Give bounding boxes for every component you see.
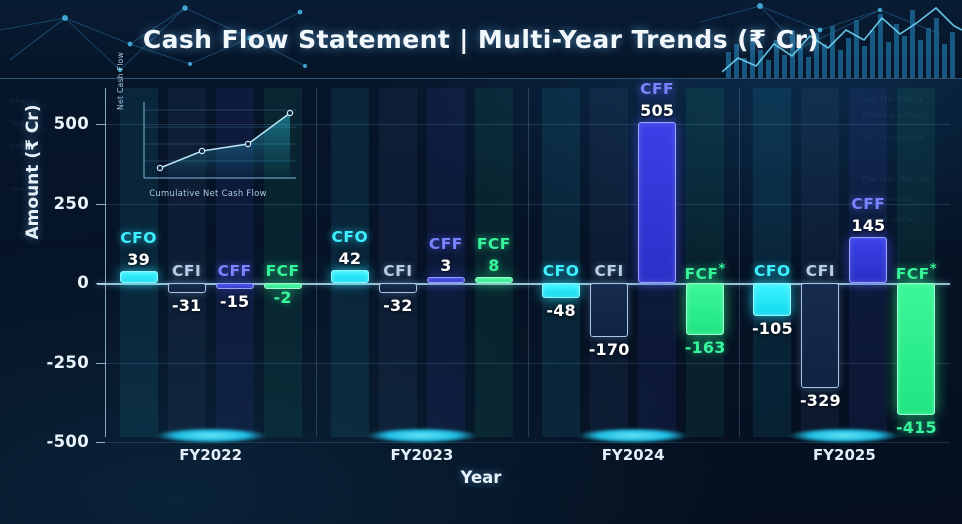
series-label-fcf: FCF* (883, 262, 949, 283)
bar-value-label: 8 (457, 256, 531, 275)
bar-value-label: -32 (361, 296, 435, 315)
series-label-fcf: FCF (461, 235, 527, 253)
inset-chart: Net Cash Flow Cumulative Net Cash Flow (118, 96, 298, 196)
bar-fy2025-cff[interactable] (849, 237, 887, 283)
series-label-cfi: CFI (787, 262, 853, 280)
y-axis-tick (96, 363, 105, 364)
series-label-fcf: FCF (250, 262, 316, 280)
inset-y-axis-label: Net Cash Flow (116, 52, 125, 110)
bar-fy2025-fcf[interactable] (897, 283, 935, 415)
y-axis-label: -500 (27, 432, 89, 451)
bar-value-label: -2 (246, 288, 320, 307)
inset-title: Cumulative Net Cash Flow (118, 188, 298, 198)
y-axis-label: 0 (27, 273, 89, 292)
x-axis-label-fy2025: FY2025 (784, 446, 904, 464)
series-label-cfi: CFI (576, 262, 642, 280)
bar-value-label: -105 (735, 319, 809, 338)
bar-value-label: -163 (668, 338, 742, 357)
bar-fy2023-cfi[interactable] (379, 283, 417, 293)
chart-canvas: Cash Flow Statement | Multi-Year Trends … (0, 0, 962, 524)
footnote-asterisk: * (930, 262, 937, 277)
y-axis-title: Amount (₹ Cr) (23, 87, 43, 257)
y-axis-tick (96, 124, 105, 125)
bar-value-label: 505 (620, 101, 694, 120)
bar-value-label: -48 (524, 301, 598, 320)
bar-fy2023-cff[interactable] (427, 277, 465, 283)
bar-fy2024-fcf[interactable] (686, 283, 724, 335)
bar-fy2025-cfi[interactable] (801, 283, 839, 388)
series-label-cff: CFF (624, 80, 690, 98)
bar-fy2023-cfo[interactable] (331, 270, 369, 283)
group-pedestal-glow (578, 428, 688, 443)
y-axis-label: 500 (27, 114, 89, 133)
header-banner: Cash Flow Statement | Multi-Year Trends … (0, 0, 962, 79)
y-axis-tick (96, 442, 105, 443)
x-axis-label-fy2023: FY2023 (362, 446, 482, 464)
series-label-fcf: FCF* (672, 262, 738, 283)
x-axis-title: Year (0, 468, 962, 487)
x-axis-label-fy2024: FY2024 (573, 446, 693, 464)
bar-fy2022-cfo[interactable] (120, 271, 158, 283)
y-axis-tick (96, 204, 105, 205)
bar-fy2025-cfo[interactable] (753, 283, 791, 316)
group-pedestal-glow (367, 428, 477, 443)
bar-value-label: -170 (572, 340, 646, 359)
bar-value-label: 145 (831, 216, 905, 235)
bar-fy2024-cff[interactable] (638, 122, 676, 283)
bar-fy2024-cfo[interactable] (542, 283, 580, 298)
footnote-asterisk: * (719, 262, 726, 277)
y-axis-label: -250 (27, 353, 89, 372)
x-axis-label-fy2022: FY2022 (151, 446, 271, 464)
bar-value-label: -329 (783, 391, 857, 410)
bar-fy2023-fcf[interactable] (475, 277, 513, 283)
series-label-cfo: CFO (106, 229, 172, 247)
bar-fy2024-cfi[interactable] (590, 283, 628, 337)
group-pedestal-glow (789, 428, 899, 443)
series-label-cff: CFF (835, 195, 901, 213)
page-title: Cash Flow Statement | Multi-Year Trends … (0, 0, 962, 79)
group-pedestal-glow (156, 428, 266, 443)
series-label-cfo: CFO (317, 228, 383, 246)
y-axis-label: 250 (27, 194, 89, 213)
